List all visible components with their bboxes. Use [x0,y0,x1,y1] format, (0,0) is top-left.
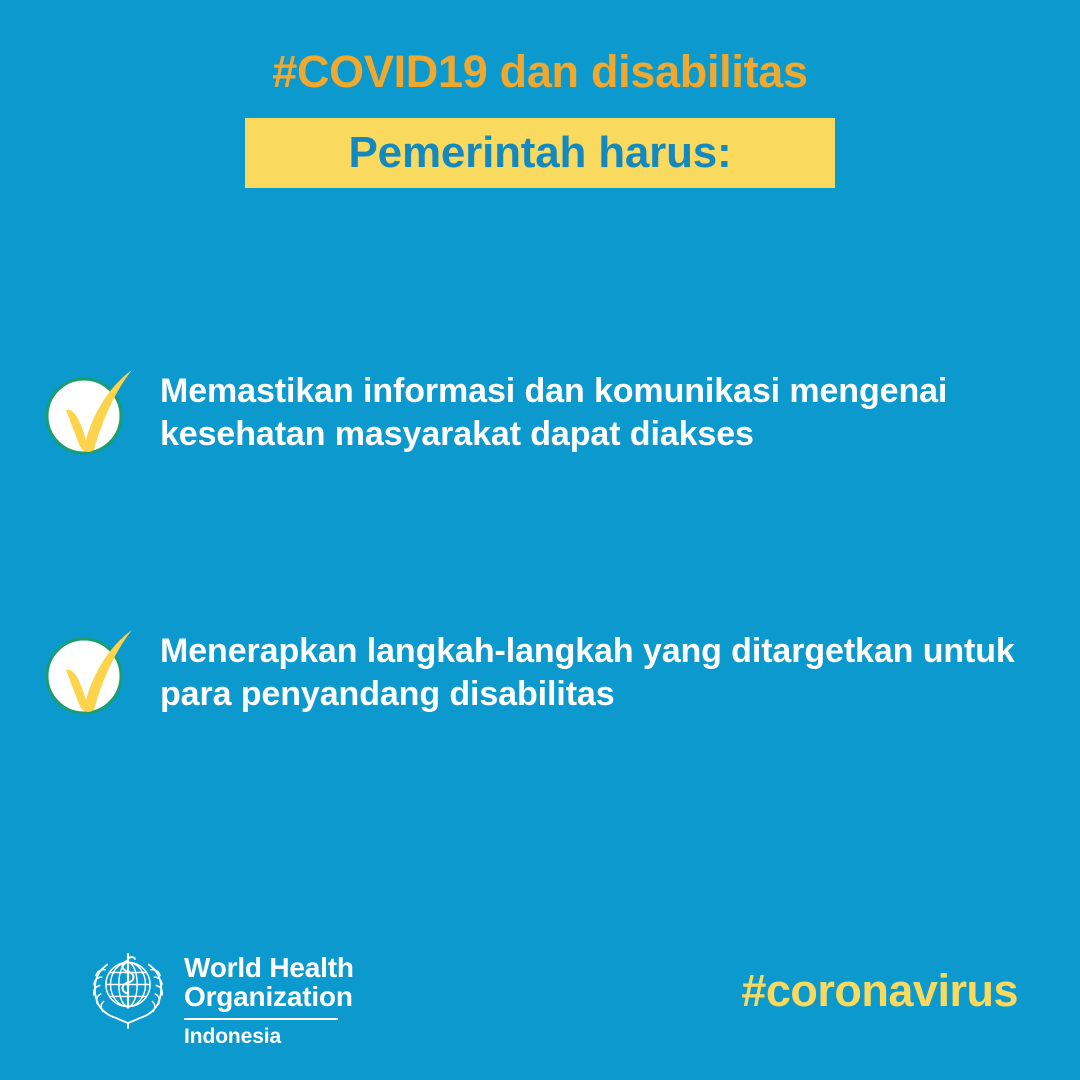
list-item: Menerapkan langkah-langkah yang ditarget… [38,618,1048,722]
who-divider [184,1018,338,1020]
who-emblem-icon [82,944,174,1036]
check-circle-icon [38,358,142,462]
who-name-line1: World Health [184,954,354,983]
who-country-label: Indonesia [184,1026,354,1047]
who-wordmark: World Health Organization Indonesia [184,944,354,1047]
list-item: Memastikan informasi dan komunikasi meng… [38,358,1048,462]
banner-text: Pemerintah harus: [349,131,732,175]
list-item-label: Menerapkan langkah-langkah yang ditarget… [160,618,1048,716]
page-title: #COVID19 dan disabilitas [0,48,1080,95]
list-item-label: Memastikan informasi dan komunikasi meng… [160,358,1048,456]
check-circle-icon [38,618,142,722]
who-logo: World Health Organization Indonesia [82,944,354,1047]
who-name-line2: Organization [184,983,354,1012]
banner: Pemerintah harus: [245,118,835,188]
poster-canvas: #COVID19 dan disabilitas Pemerintah haru… [0,0,1080,1080]
hashtag-coronavirus: #coronavirus [741,968,1018,1013]
